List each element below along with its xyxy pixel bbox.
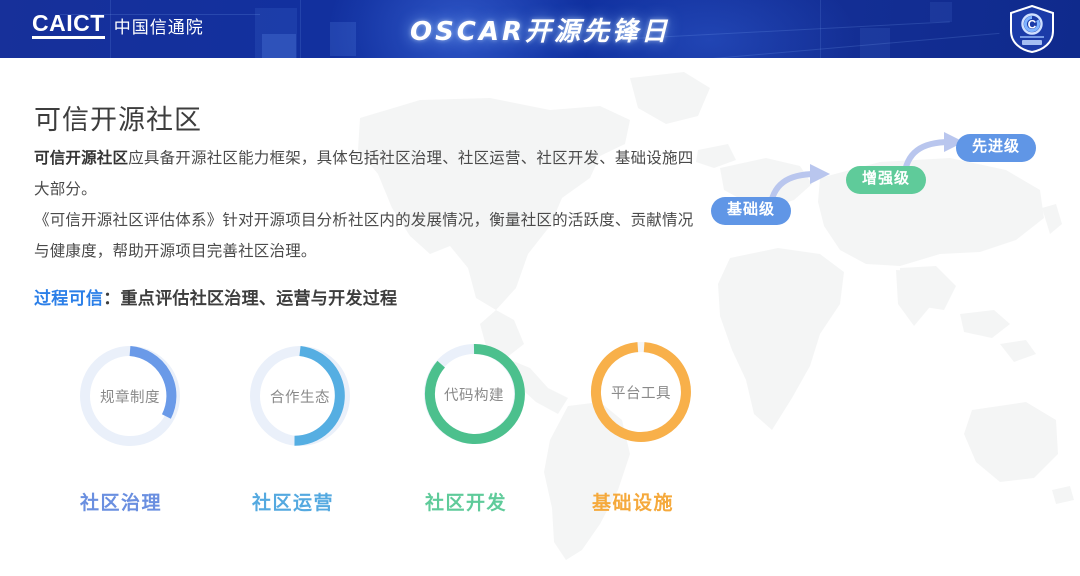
capability-donut-group: 规章制度 合作生态 代码构建 平台工具 社区治理 社区运营 社区开发 [0, 330, 1080, 530]
donut-label-community-governance: 社区治理 [80, 488, 162, 515]
intro-paragraph: 可信开源社区应具备开源社区能力框架，具体包括社区治理、社区运营、社区开发、基础设… [34, 143, 706, 267]
donut-label-community-development: 社区开发 [425, 488, 507, 515]
process-trust-subheading: 过程可信：重点评估社区治理、运营与开发过程 [34, 284, 397, 309]
slide-root: CAICT 中国信通院 OSCAR开源先锋日 C [0, 0, 1080, 576]
donut-center-label: 代码构建 [418, 338, 530, 450]
shield-badge-icon: C [1009, 5, 1055, 53]
donut-label-infrastructure: 基础设施 [592, 488, 674, 515]
donut-community-operation: 合作生态 [244, 340, 356, 452]
maturity-ladder: 基础级 增强级 先进级 [700, 126, 1070, 232]
donut-center-label: 合作生态 [244, 340, 356, 452]
donut-center-label: 规章制度 [74, 340, 186, 452]
subheading-value: ：重点评估社区治理、运营与开发过程 [103, 289, 397, 308]
paragraph-line1: 应具备开源社区能力框架，具体包括社区治理、社区运营、社区开发、基础设施四大部分。 [34, 150, 693, 198]
badge-basic-level[interactable]: 基础级 [711, 197, 791, 225]
badge-enhanced-level[interactable]: 增强级 [846, 166, 926, 194]
paragraph-bold-lead: 可信开源社区 [34, 150, 128, 167]
donut-label-community-operation: 社区运营 [252, 488, 334, 515]
event-title: OSCAR开源先锋日 [0, 0, 1080, 58]
donut-infrastructure: 平台工具 [585, 336, 697, 448]
donut-community-development: 代码构建 [418, 338, 530, 450]
donut-center-label: 平台工具 [585, 336, 697, 448]
badge-advanced-level[interactable]: 先进级 [956, 134, 1036, 162]
page-header: CAICT 中国信通院 OSCAR开源先锋日 C [0, 0, 1080, 58]
paragraph-line2: 《可信开源社区评估体系》针对开源项目分析社区内的发展情况，衡量社区的活跃度、贡献… [34, 205, 706, 267]
svg-text:C: C [1028, 18, 1037, 32]
subheading-key: 过程可信 [34, 289, 103, 308]
donut-community-governance: 规章制度 [74, 340, 186, 452]
page-title: 可信开源社区 [34, 98, 202, 137]
